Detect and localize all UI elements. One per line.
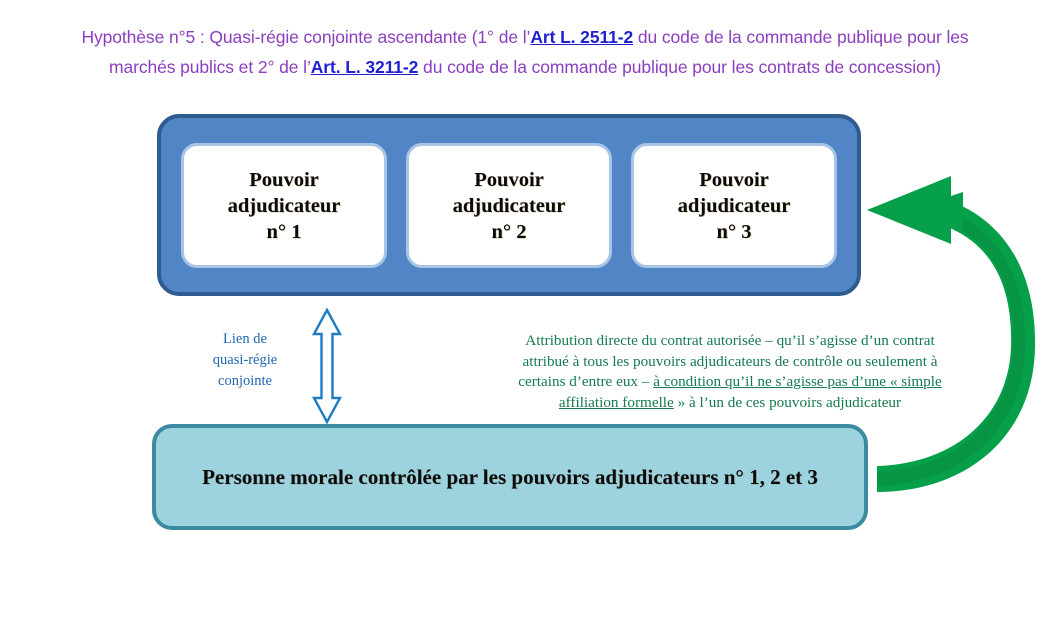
- title-line-2: marchés publics et 2° de l’Art. L. 3211-…: [0, 52, 1050, 82]
- pa-1-line1: Pouvoir: [249, 169, 318, 191]
- pouvoir-adjudicateur-3-box[interactable]: Pouvoir adjudicateur n° 3: [631, 143, 837, 268]
- page-title: Hypothèse n°5 : Quasi-régie conjointe as…: [0, 22, 1050, 82]
- green-note-line4-plain: » à l’un de ces pouvoirs adjudicateur: [674, 394, 901, 411]
- title-line2-text-after: du code de la commande publique pour les…: [418, 57, 941, 77]
- lien-line3: conjointe: [218, 373, 272, 389]
- pa-3-label: Pouvoir adjudicateur n° 3: [678, 167, 791, 245]
- green-note-line4-underlined: affiliation formelle: [559, 394, 674, 411]
- title-line1-text-after: du code de la commande publique pour les: [633, 27, 968, 47]
- pouvoir-adjudicateur-2-box[interactable]: Pouvoir adjudicateur n° 2: [406, 143, 612, 268]
- double-headed-vertical-arrow-icon: [307, 308, 347, 424]
- contracting-authorities-container: Pouvoir adjudicateur n° 1 Pouvoir adjudi…: [157, 114, 861, 296]
- link-art-l-3211-2[interactable]: Art. L. 3211-2: [311, 57, 419, 77]
- green-annotation-text: Attribution directe du contrat autorisée…: [487, 331, 973, 413]
- pa-3-line3: n° 3: [717, 221, 752, 243]
- pa-2-line2: adjudicateur: [453, 195, 566, 217]
- green-note-line3-plain: certains d’entre eux –: [518, 373, 653, 390]
- green-note-line-4: affiliation formelle » à l’un de ces pou…: [487, 393, 973, 414]
- pa-1-line2: adjudicateur: [228, 195, 341, 217]
- green-note-line-2: attribué à tous les pouvoirs adjudicateu…: [487, 352, 973, 373]
- pouvoir-adjudicateur-1-box[interactable]: Pouvoir adjudicateur n° 1: [181, 143, 387, 268]
- title-line2-text-before: marchés publics et 2° de l’: [109, 57, 311, 77]
- lien-line2: quasi-régie: [213, 352, 277, 368]
- pa-1-label: Pouvoir adjudicateur n° 1: [228, 167, 341, 245]
- link-art-l-2511-2[interactable]: Art L. 2511-2: [530, 27, 633, 47]
- contracting-authorities-row: Pouvoir adjudicateur n° 1 Pouvoir adjudi…: [181, 143, 837, 268]
- lien-line1: Lien de: [223, 331, 267, 347]
- pa-2-label: Pouvoir adjudicateur n° 2: [453, 167, 566, 245]
- pa-1-line3: n° 1: [267, 221, 302, 243]
- green-note-line-1: Attribution directe du contrat autorisée…: [487, 331, 973, 352]
- pa-2-line3: n° 2: [492, 221, 527, 243]
- pa-2-line1: Pouvoir: [474, 169, 543, 191]
- title-line-1: Hypothèse n°5 : Quasi-régie conjointe as…: [0, 22, 1050, 52]
- pa-3-line1: Pouvoir: [699, 169, 768, 191]
- pa-3-line2: adjudicateur: [678, 195, 791, 217]
- controlled-legal-person-box[interactable]: Personne morale contrôlée par les pouvoi…: [152, 424, 868, 530]
- pm-box-label: Personne morale contrôlée par les pouvoi…: [202, 463, 818, 492]
- quasi-regie-link-label: Lien de quasi-régie conjointe: [189, 329, 301, 392]
- green-note-line3-underlined: à condition qu’il ne s’agisse pas d’une …: [653, 373, 942, 390]
- green-note-line-3: certains d’entre eux – à condition qu’il…: [487, 372, 973, 393]
- title-line1-text-before: Hypothèse n°5 : Quasi-régie conjointe as…: [81, 27, 530, 47]
